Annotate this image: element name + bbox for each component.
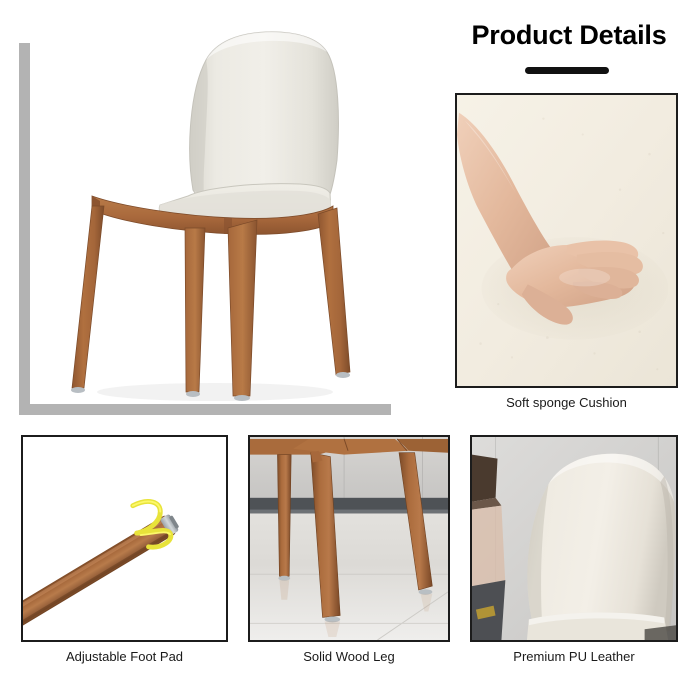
panel-premium-pu-leather bbox=[470, 435, 678, 642]
dining-chair-illustration bbox=[0, 0, 440, 430]
hero-product-image bbox=[0, 0, 440, 430]
panel-solid-wood-leg bbox=[248, 435, 450, 642]
title-underline-rule bbox=[525, 67, 609, 74]
sponge-cushion-photo bbox=[457, 95, 676, 386]
caption-soft-sponge-cushion: Soft sponge Cushion bbox=[455, 394, 678, 412]
solid-wood-leg-photo bbox=[250, 437, 448, 640]
corner-accent-horizontal-bar bbox=[19, 404, 391, 415]
caption-solid-wood-leg: Solid Wood Leg bbox=[248, 648, 450, 666]
adjustable-foot-pad-photo bbox=[23, 437, 226, 640]
corner-accent-vertical-bar bbox=[19, 43, 30, 415]
caption-premium-pu-leather: Premium PU Leather bbox=[470, 648, 678, 666]
caption-adjustable-foot-pad: Adjustable Foot Pad bbox=[21, 648, 228, 666]
product-details-page: Product Details bbox=[0, 0, 700, 700]
page-title: Product Details bbox=[455, 18, 683, 52]
panel-adjustable-foot-pad bbox=[21, 435, 228, 642]
panel-soft-sponge-cushion bbox=[455, 93, 678, 388]
premium-pu-leather-photo bbox=[472, 437, 676, 640]
